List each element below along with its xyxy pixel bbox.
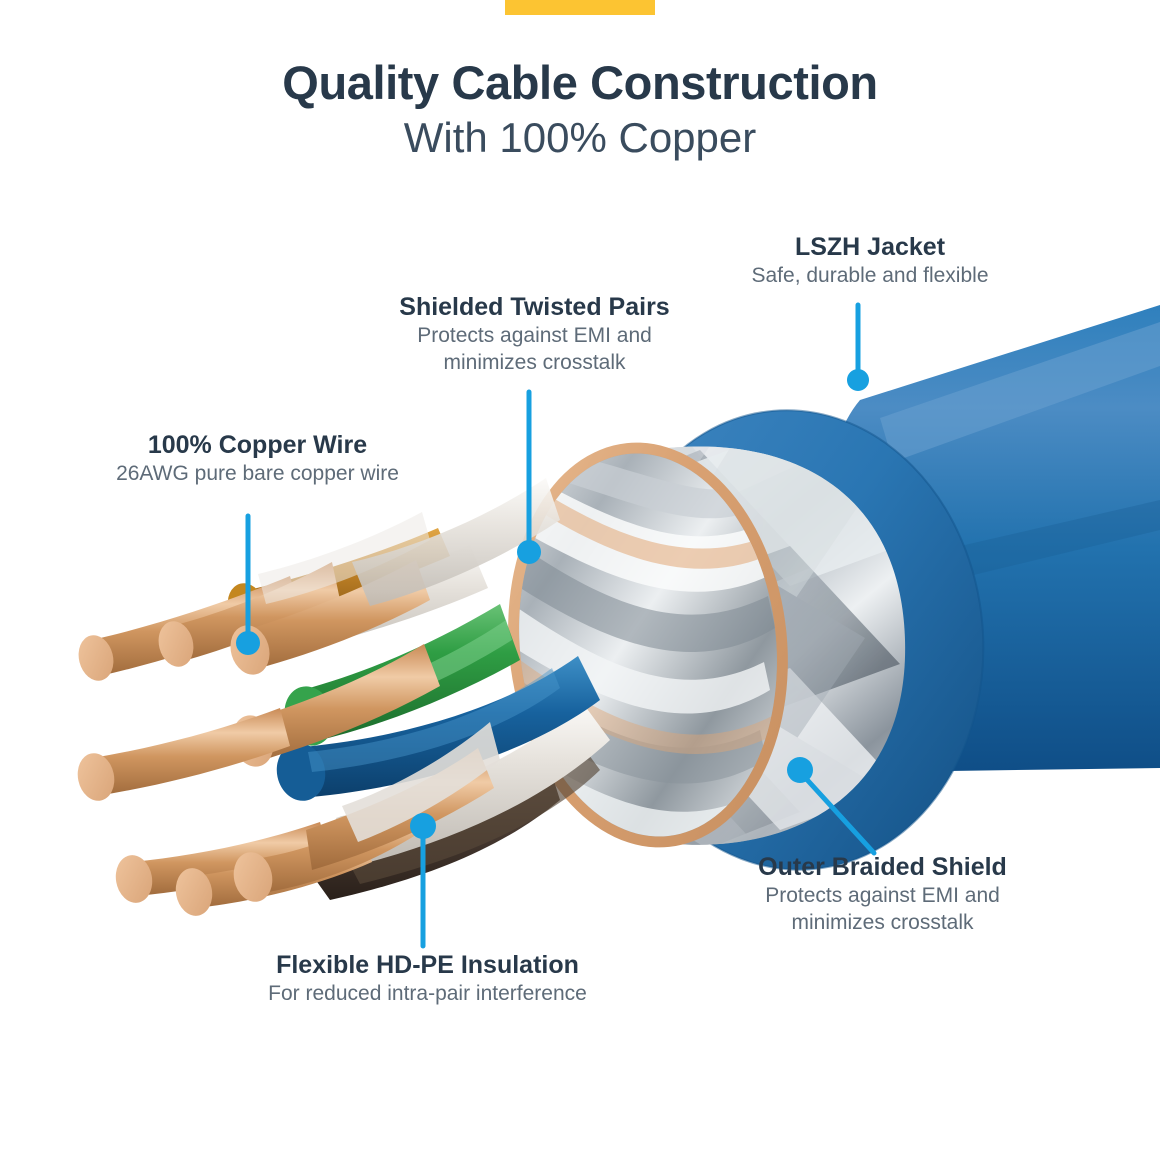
callout-subtitle-copper-wire: 26AWG pure bare copper wire [60, 461, 455, 488]
callout-outer-braided-shield: Outer Braided Shield Protects against EM… [700, 852, 1065, 937]
callout-subtitle-shielded-twisted-pairs-line2: minimizes crosstalk [362, 350, 707, 377]
callout-shielded-twisted-pairs: Shielded Twisted Pairs Protects against … [362, 292, 707, 377]
leader-dot-hdpe-insulation [410, 813, 436, 839]
callout-subtitle-lszh-jacket: Safe, durable and flexible [690, 263, 1050, 290]
page-subtitle: With 100% Copper [0, 113, 1160, 163]
leader-dot-outer-braided-shield [787, 757, 813, 783]
callout-title-outer-braided-shield: Outer Braided Shield [700, 852, 1065, 883]
leader-dot-shielded-twisted-pairs [517, 540, 541, 564]
page-title: Quality Cable Construction [0, 58, 1160, 109]
callout-title-hdpe-insulation: Flexible HD-PE Insulation [215, 950, 640, 981]
callout-title-copper-wire: 100% Copper Wire [60, 430, 455, 461]
callout-title-shielded-twisted-pairs: Shielded Twisted Pairs [362, 292, 707, 323]
infographic-canvas: Quality Cable Construction With 100% Cop… [0, 0, 1160, 1160]
callout-hdpe-insulation: Flexible HD-PE Insulation For reduced in… [215, 950, 640, 1008]
callout-subtitle-outer-braided-shield-line2: minimizes crosstalk [700, 910, 1065, 937]
callout-title-lszh-jacket: LSZH Jacket [690, 232, 1050, 263]
callout-copper-wire: 100% Copper Wire 26AWG pure bare copper … [60, 430, 455, 488]
leader-dot-copper-wire [236, 631, 260, 655]
page-title-block: Quality Cable Construction With 100% Cop… [0, 58, 1160, 162]
top-accent-bar [505, 0, 655, 15]
callout-subtitle-shielded-twisted-pairs-line1: Protects against EMI and [362, 323, 707, 350]
callout-subtitle-outer-braided-shield-line1: Protects against EMI and [700, 883, 1065, 910]
callout-lszh-jacket: LSZH Jacket Safe, durable and flexible [690, 232, 1050, 290]
leader-dot-lszh-jacket [847, 369, 869, 391]
callout-subtitle-hdpe-insulation: For reduced intra-pair interference [215, 981, 640, 1008]
